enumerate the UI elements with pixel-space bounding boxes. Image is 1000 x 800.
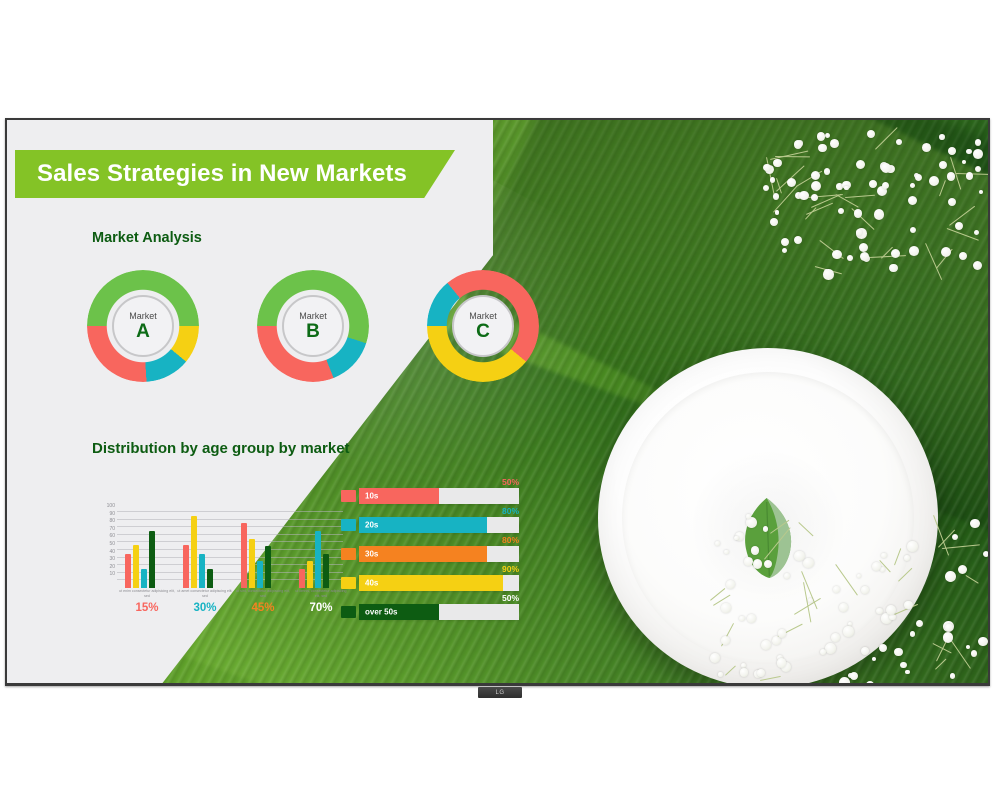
y-axis-tick: 100: [95, 503, 115, 509]
hbar-category-label: 30s: [365, 550, 378, 559]
flower-blossom: [818, 144, 826, 152]
donut-letter-b: B: [306, 322, 320, 341]
flower-blossom: [947, 172, 955, 180]
flower-blossom: [839, 677, 850, 683]
hbar-value-label: 50%: [502, 593, 519, 603]
flower-blossom: [861, 647, 869, 655]
flower-blossom: [734, 536, 739, 541]
flower-blossom: [939, 161, 947, 169]
bar-series-yellow: [249, 539, 255, 588]
flower-blossom: [724, 550, 729, 555]
flower-blossom: [778, 629, 787, 638]
flower-blossom: [922, 143, 931, 152]
flower-blossom: [876, 608, 882, 614]
bar-series-red: [183, 545, 189, 588]
y-axis-tick: 70: [95, 526, 115, 532]
flower-blossom: [978, 637, 987, 646]
hbar-row-10s[interactable]: 10s50%: [359, 488, 519, 504]
flower-blossom: [773, 159, 782, 168]
flower-blossom: [825, 133, 830, 138]
flower-blossom: [896, 139, 902, 145]
flower-blossom: [939, 134, 945, 140]
flower-blossom: [889, 264, 898, 273]
x-axis-label: ut sint, consectetur adipiscing elit, se…: [235, 589, 291, 599]
flower-blossom: [900, 662, 907, 669]
donut-chart-group: Market A Market B Market C Market A: [87, 270, 547, 395]
flower-blossom: [746, 514, 751, 519]
bar-series-yellow: [307, 561, 313, 588]
donut-center-b: Market B: [282, 295, 344, 357]
flower-stem: [942, 544, 980, 549]
flower-blossom: [881, 163, 891, 173]
hbar-row-20s[interactable]: 20s80%: [359, 517, 519, 533]
flower-blossom: [959, 252, 967, 260]
flower-blossom: [945, 571, 956, 582]
flower-blossom: [799, 191, 809, 201]
flower-blossom: [948, 198, 957, 207]
flower-blossom: [974, 230, 979, 235]
flower-blossom: [958, 565, 967, 574]
chip-over-50s: [341, 606, 356, 618]
flower-blossom: [739, 616, 744, 621]
flower-stem: [898, 568, 913, 582]
hbar-row-40s[interactable]: 40s90%: [359, 575, 519, 591]
flower-blossom: [811, 171, 820, 180]
flower-blossom: [891, 249, 900, 258]
flower-blossom: [910, 183, 915, 188]
flower-blossom: [782, 248, 787, 253]
hbar-value-label: 90%: [502, 564, 519, 574]
flower-blossom: [832, 250, 842, 260]
flower-stem: [939, 180, 946, 196]
flower-stem: [798, 522, 813, 536]
chip-10s: [341, 490, 356, 502]
flower-blossom: [867, 130, 875, 138]
donut-label-c: Market: [469, 312, 497, 321]
flower-blossom: [741, 663, 746, 668]
flower-blossom: [726, 580, 735, 589]
flower-blossom: [710, 653, 720, 663]
flower-blossom: [966, 149, 972, 155]
flower-blossom: [775, 210, 780, 215]
flower-blossom: [856, 160, 865, 169]
donut-letter-a: A: [136, 322, 150, 341]
flower-stem: [725, 666, 736, 677]
display-screen: Sales Strategies in New Markets Market A…: [7, 120, 988, 683]
flower-stem: [760, 676, 781, 681]
flower-blossom: [943, 632, 953, 642]
bar-group: [177, 512, 233, 588]
flower-blossom: [894, 648, 903, 657]
flower-blossom: [859, 243, 868, 252]
bar-series-darkgreen: [323, 554, 329, 588]
flower-blossom: [882, 182, 889, 189]
slide-title-banner: Sales Strategies in New Markets: [15, 150, 455, 198]
flower-blossom: [833, 586, 840, 593]
flower-blossom: [850, 672, 858, 680]
flower-blossom: [950, 673, 956, 679]
flower-blossom: [973, 149, 983, 159]
flower-blossom: [747, 614, 756, 623]
flower-blossom: [777, 658, 786, 667]
flower-blossom: [857, 574, 861, 578]
flower-blossom: [881, 553, 886, 558]
flower-blossom: [908, 196, 917, 205]
bar-series-red: [125, 554, 131, 588]
flower-stem: [933, 515, 949, 556]
brand-logo-plate: LG: [478, 687, 522, 698]
page-title: Sales Strategies in New Markets: [37, 160, 407, 188]
flower-blossom: [721, 636, 730, 645]
hbar-category-label: over 50s: [365, 608, 397, 617]
flower-blossom: [823, 269, 833, 279]
flower-blossom: [955, 222, 963, 230]
flower-blossom: [966, 645, 970, 649]
flower-blossom: [830, 139, 839, 148]
flower-blossom: [962, 160, 966, 164]
flower-blossom: [784, 573, 790, 579]
flower-blossom: [820, 649, 826, 655]
flower-blossom: [869, 180, 877, 188]
y-axis-tick: 50: [95, 541, 115, 547]
hbar-fill: [359, 575, 503, 591]
flower-blossom: [811, 194, 818, 201]
flower-blossom: [929, 176, 939, 186]
flower-stem: [764, 527, 791, 560]
flower-blossom: [879, 644, 888, 653]
bar-group: [235, 512, 291, 588]
flower-blossom: [721, 603, 731, 613]
flower-blossom: [904, 555, 910, 561]
flower-blossom: [945, 624, 952, 631]
flower-blossom: [838, 208, 844, 214]
flower-blossom: [979, 190, 983, 194]
flower-blossom: [744, 557, 753, 566]
flower-blossom: [794, 236, 803, 245]
flower-stem: [875, 127, 898, 150]
flower-blossom: [825, 643, 836, 654]
flower-stem: [894, 548, 902, 565]
flower-blossom: [866, 681, 874, 683]
flower-blossom: [715, 541, 720, 546]
flower-blossom: [770, 177, 775, 182]
flower-stem: [869, 256, 906, 259]
flower-blossom: [824, 168, 830, 174]
hbar-category-label: 10s: [365, 492, 378, 501]
group-percent-label: 15%: [119, 602, 175, 614]
flower-blossom: [811, 181, 821, 191]
flower-blossom: [770, 218, 778, 226]
chip-20s: [341, 519, 356, 531]
bar-series-darkgreen: [265, 546, 271, 588]
flower-stem: [965, 575, 978, 584]
flower-blossom: [718, 672, 722, 676]
flower-blossom: [915, 174, 922, 181]
bar-group: [119, 512, 175, 588]
flower-stem: [933, 643, 952, 654]
donut-label-a: Market: [129, 312, 157, 321]
flower-blossom: [781, 238, 789, 246]
flower-blossom: [831, 633, 841, 643]
flower-blossom: [861, 586, 869, 594]
y-axis-tick: 30: [95, 556, 115, 562]
x-axis-label: ut enim consectetur adipisicing elit, se…: [119, 589, 175, 599]
bar-series-yellow: [191, 516, 197, 588]
bar-series-darkgreen: [149, 531, 155, 588]
flower-blossom: [761, 640, 771, 650]
hbar-row-over-50s[interactable]: over 50s50%: [359, 604, 519, 620]
flower-blossom: [904, 601, 912, 609]
y-axis-tick: 90: [95, 511, 115, 517]
y-axis-tick: 60: [95, 533, 115, 539]
flower-blossom: [854, 209, 863, 218]
flower-blossom: [909, 246, 919, 256]
hbar-value-label: 80%: [502, 535, 519, 545]
flower-blossom: [794, 551, 804, 561]
flower-blossom: [764, 560, 772, 568]
group-percent-label: 45%: [235, 602, 291, 614]
horizontal-bar-chart: 10s50%20s80%30s80%40s90%over 50s50%: [359, 488, 519, 628]
bar-series-darkgreen: [207, 569, 213, 588]
flower-blossom: [983, 551, 988, 557]
flower-blossom: [817, 132, 825, 140]
section-heading-distribution: Distribution by age group by market: [92, 440, 350, 457]
donut-center-c: Market C: [452, 295, 514, 357]
flower-blossom: [970, 519, 979, 528]
flower-blossom: [751, 546, 759, 554]
hbar-category-label: 20s: [365, 521, 378, 530]
flower-spray-top-right: [762, 130, 988, 270]
y-axis-tick: 20: [95, 564, 115, 570]
flower-blossom: [847, 255, 853, 261]
display-monitor: Sales Strategies in New Markets Market A…: [5, 118, 990, 686]
hbar-row-30s[interactable]: 30s80%: [359, 546, 519, 562]
hbar-value-label: 80%: [502, 506, 519, 516]
flower-blossom: [948, 147, 956, 155]
x-axis-label: ut amet consectetur adipiscing elit, sed: [177, 589, 233, 599]
flower-blossom: [973, 261, 983, 271]
group-percent-label: 30%: [177, 602, 233, 614]
flower-blossom: [753, 559, 763, 569]
vertical-bar-chart: 100908070605040302010ut enim consectetur…: [95, 490, 343, 610]
flower-blossom: [874, 209, 884, 219]
flower-blossom: [971, 650, 977, 656]
flower-spray-bottom-right: [707, 510, 988, 683]
flower-blossom: [966, 172, 973, 179]
flower-blossom: [889, 614, 895, 620]
section-heading-market-analysis: Market Analysis: [92, 230, 202, 246]
bar-series-teal: [141, 569, 147, 588]
flower-blossom: [844, 186, 849, 191]
flower-blossom: [757, 669, 765, 677]
chip-30s: [341, 548, 356, 560]
flower-blossom: [910, 227, 916, 233]
flower-blossom: [763, 185, 769, 191]
bar-series-red: [241, 523, 247, 588]
donut-label-b: Market: [299, 312, 327, 321]
flower-blossom: [740, 668, 749, 677]
flower-blossom: [975, 166, 981, 172]
flower-blossom: [910, 631, 915, 636]
y-axis-tick: 40: [95, 549, 115, 555]
flower-blossom: [872, 657, 876, 661]
flower-blossom: [763, 164, 770, 171]
chip-40s: [341, 577, 356, 589]
flower-blossom: [952, 534, 958, 540]
flower-blossom: [773, 193, 779, 199]
hbar-value-label: 50%: [502, 477, 519, 487]
flower-blossom: [803, 558, 814, 569]
y-axis-tick: 10: [95, 571, 115, 577]
flower-blossom: [905, 670, 909, 674]
donut-center-a: Market A: [112, 295, 174, 357]
bar-series-red: [299, 569, 305, 588]
flower-blossom: [916, 620, 923, 627]
flower-blossom: [839, 603, 849, 613]
x-axis-label: ut omnis, consectetur adipiscing elit, s…: [293, 589, 349, 599]
flower-blossom: [794, 140, 803, 149]
flower-stem: [845, 195, 875, 199]
flower-blossom: [975, 139, 982, 146]
hbar-category-label: 40s: [365, 579, 378, 588]
flower-blossom: [843, 626, 854, 637]
y-axis-tick: 80: [95, 518, 115, 524]
donut-letter-c: C: [476, 322, 490, 341]
flower-blossom: [907, 541, 918, 552]
flower-blossom: [763, 526, 768, 531]
flower-blossom: [941, 247, 951, 257]
bar-series-teal: [315, 531, 321, 588]
bar-series-teal: [199, 554, 205, 588]
bar-series-yellow: [133, 545, 139, 588]
bar-series-teal: [257, 561, 263, 588]
